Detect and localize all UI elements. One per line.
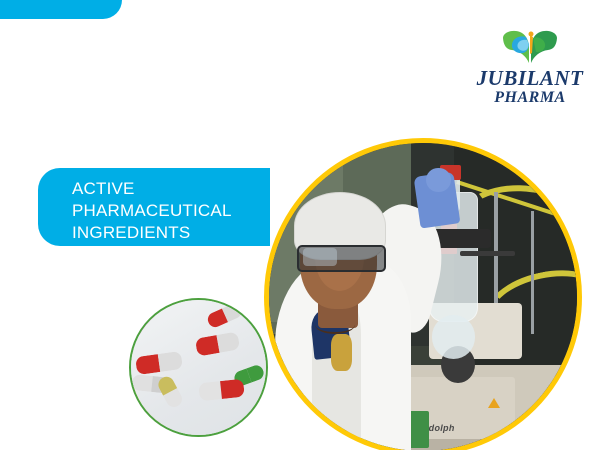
warning-triangle-icon <box>488 398 500 408</box>
lab-scientist-photo-circle: Heidolph <box>264 138 582 450</box>
photo-inner: Heidolph <box>269 143 577 450</box>
goggles-lens-highlight <box>303 248 337 266</box>
clamp-arm <box>460 251 515 256</box>
jubilant-leaf-butterfly-emblem <box>500 28 560 66</box>
inner-garment-gold <box>331 334 353 371</box>
headline-banner: ACTIVE PHARMACEUTICAL INGREDIENTS <box>38 168 270 246</box>
top-left-cyan-tab <box>0 0 122 19</box>
pills-photo-circle <box>129 298 268 437</box>
logo-word-pharma: PHARMA <box>474 90 586 106</box>
jubilant-pharma-logo: JUBILANT PHARMA <box>474 28 586 106</box>
poster-canvas: Heidolph ACTIVE PHARMAC <box>0 0 600 450</box>
stand-rod-vertical-2 <box>531 211 534 334</box>
logo-word-jubilant: JUBILANT <box>474 68 586 89</box>
flask-bulb <box>432 315 475 358</box>
headline-text: ACTIVE PHARMACEUTICAL INGREDIENTS <box>72 178 268 244</box>
glove-knuckles <box>426 168 451 193</box>
necklace <box>315 315 355 333</box>
